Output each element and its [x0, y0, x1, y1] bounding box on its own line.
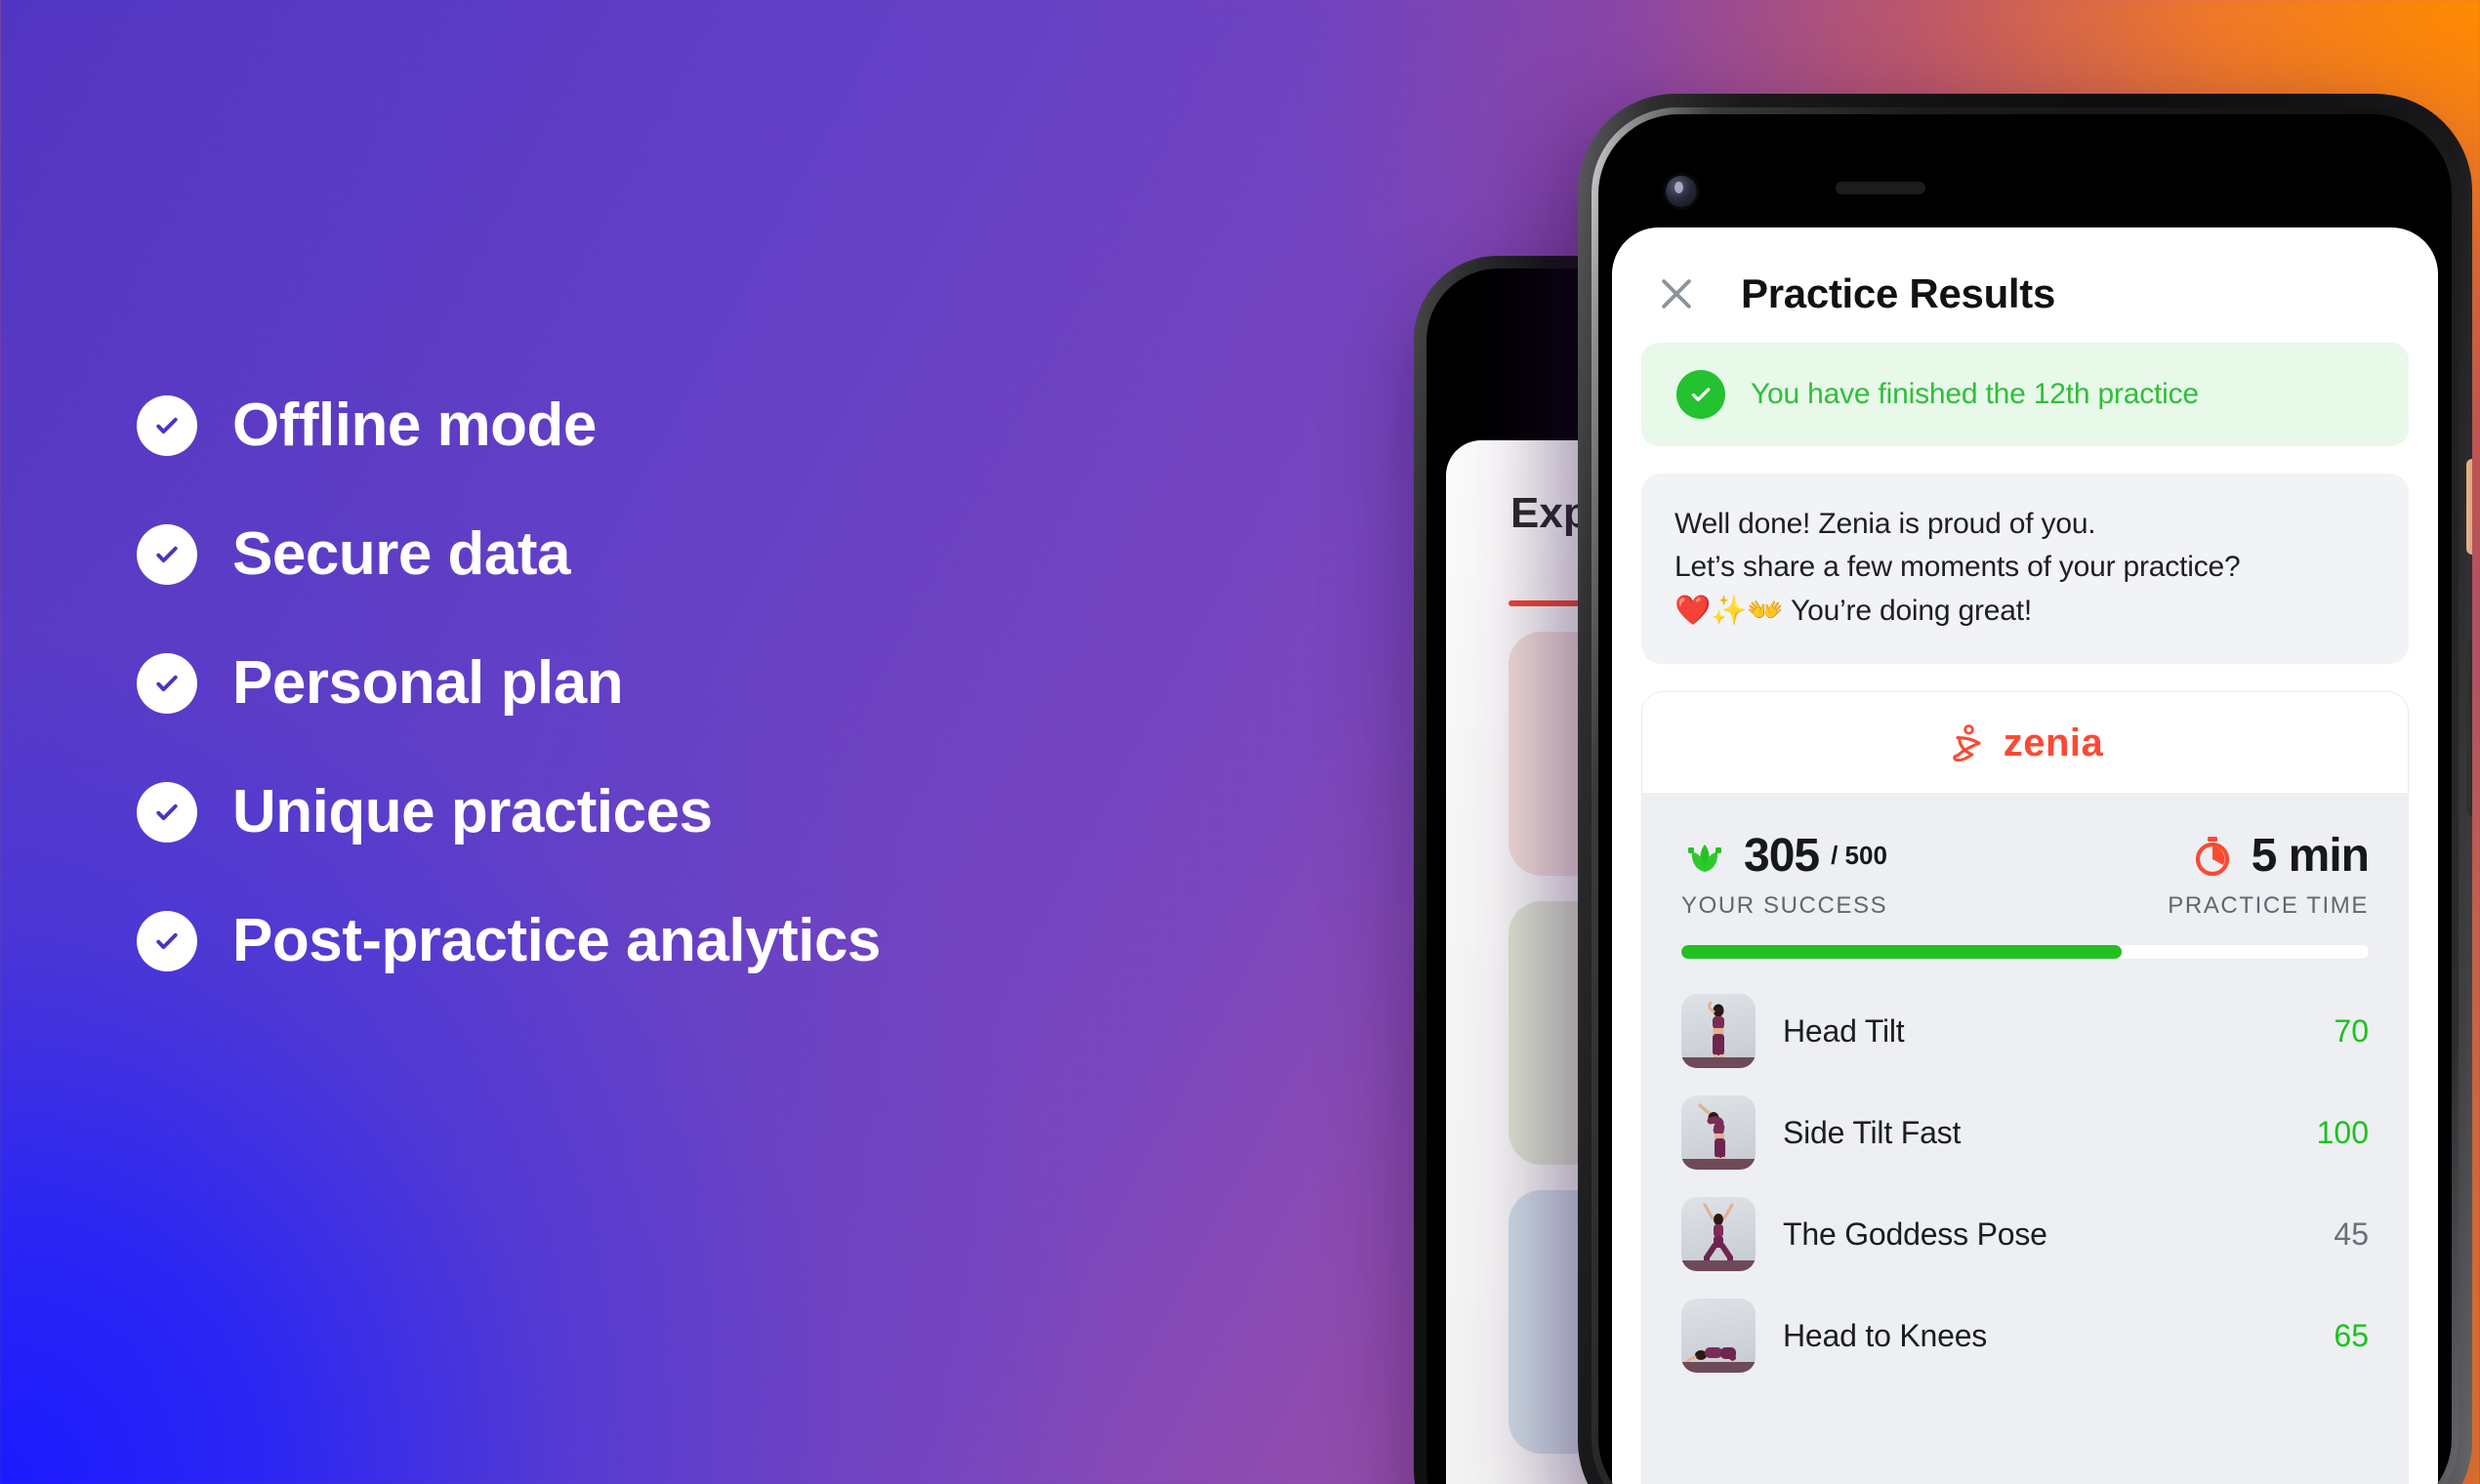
success-banner-text: You have finished the 12th practice [1751, 378, 2199, 411]
exercise-score: 45 [2334, 1216, 2369, 1253]
success-banner: You have finished the 12th practice [1641, 343, 2409, 446]
feature-label: Personal plan [232, 653, 623, 714]
exercise-score: 65 [2334, 1318, 2369, 1354]
check-circle-icon [137, 395, 197, 456]
zenia-yoga-figure-icon [1947, 722, 1990, 765]
stats-area: 305 / 500 YOUR SUCCESS [1642, 794, 2408, 959]
feature-label: Secure data [232, 524, 570, 585]
close-icon[interactable] [1655, 272, 1698, 315]
feature-label: Offline mode [232, 395, 597, 456]
foreground-phone-mockup: Practice Results You have finished the 1… [1578, 94, 2472, 1484]
yoga-mat [1681, 1362, 1756, 1373]
feature-item: Offline mode [137, 361, 1308, 490]
power-button[interactable] [2466, 459, 2472, 555]
volume-rocker-button[interactable] [2466, 640, 2472, 816]
check-circle-filled-icon [1676, 370, 1725, 419]
message-line: Well done! Zenia is proud of you. [1674, 503, 2376, 546]
list-item[interactable]: Head to Knees 65 [1681, 1285, 2369, 1386]
exercise-score: 70 [2334, 1013, 2369, 1050]
stat-practice-time: 5 min PRACTICE TIME [2168, 829, 2369, 920]
stat-value-row: 5 min [2189, 829, 2369, 883]
practice-results-screen: Practice Results You have finished the 1… [1612, 227, 2438, 1484]
results-summary-card: zenia [1641, 691, 2409, 1484]
success-progress-fill [1681, 945, 2122, 959]
page-title: Practice Results [1741, 270, 2055, 317]
success-score-total: / 500 [1831, 841, 1887, 871]
pose-goddess-thumb [1681, 1197, 1756, 1271]
yoga-mat [1681, 1057, 1756, 1068]
feature-label: Post-practice analytics [232, 911, 881, 971]
feature-item: Secure data [137, 490, 1308, 619]
stat-label: PRACTICE TIME [2168, 892, 2369, 920]
practice-time-value: 5 min [2252, 829, 2369, 883]
success-progress-bar [1681, 945, 2369, 959]
stats-row: 305 / 500 YOUR SUCCESS [1681, 829, 2369, 920]
app-header: Practice Results [1612, 227, 2438, 343]
feature-label: Unique practices [232, 782, 713, 843]
zenia-brand-row: zenia [1642, 692, 2408, 794]
exercise-name: Side Tilt Fast [1783, 1115, 2290, 1151]
message-line: ❤️✨👐 You’re doing great! [1674, 590, 2376, 633]
check-circle-icon [137, 524, 197, 585]
stopwatch-icon [2189, 833, 2236, 880]
exercise-name: Head to Knees [1783, 1318, 2306, 1354]
message-line: Let’s share a few moments of your practi… [1674, 546, 2376, 589]
pose-head-tilt-thumb [1681, 994, 1756, 1068]
list-item[interactable]: Head Tilt 70 [1681, 980, 2369, 1082]
lotus-flower-icon [1681, 833, 1728, 880]
earpiece-speaker-icon [1836, 182, 1925, 194]
pose-head-to-knees-thumb [1681, 1298, 1756, 1373]
exercise-name: Head Tilt [1783, 1013, 2306, 1050]
success-score-value: 305 [1744, 829, 1819, 883]
front-camera-icon [1666, 176, 1697, 207]
phone-screen-frame: Practice Results You have finished the 1… [1598, 114, 2452, 1484]
zenia-brand-name: zenia [2004, 721, 2104, 765]
list-item[interactable]: Side Tilt Fast 100 [1681, 1082, 2369, 1183]
yoga-mat [1681, 1159, 1756, 1170]
congratulations-message-card: Well done! Zenia is proud of you. Let’s … [1641, 474, 2409, 664]
exercise-score: 100 [2317, 1115, 2369, 1151]
feature-item: Unique practices [137, 748, 1308, 877]
check-circle-icon [137, 653, 197, 714]
exercise-results-list: Head Tilt 70 [1642, 959, 2408, 1484]
stat-value-row: 305 / 500 [1681, 829, 1887, 883]
feature-item: Personal plan [137, 619, 1308, 748]
check-circle-icon [137, 911, 197, 971]
stat-label: YOUR SUCCESS [1681, 892, 1887, 920]
pose-side-tilt-fast-thumb [1681, 1095, 1756, 1170]
list-item[interactable]: The Goddess Pose 45 [1681, 1183, 2369, 1285]
stat-your-success: 305 / 500 YOUR SUCCESS [1681, 829, 1887, 920]
exercise-name: The Goddess Pose [1783, 1216, 2306, 1253]
yoga-mat [1681, 1260, 1756, 1271]
check-circle-icon [137, 782, 197, 843]
feature-list: Offline mode Secure data Personal plan U… [137, 361, 1308, 1006]
feature-item: Post-practice analytics [137, 877, 1308, 1006]
